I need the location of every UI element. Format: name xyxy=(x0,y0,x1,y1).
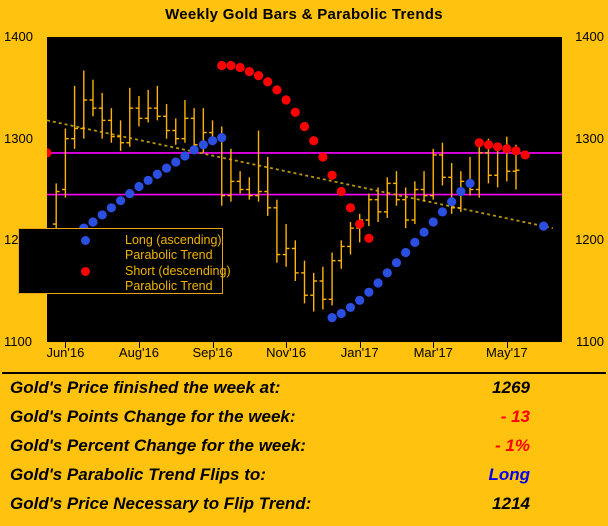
legend-label: Short (descending) xyxy=(125,264,231,278)
x-axis-tick-label: May'17 xyxy=(486,345,528,360)
short-parabolic-dot xyxy=(502,144,511,153)
ohlc-bar xyxy=(53,183,60,234)
short-parabolic-dot xyxy=(263,77,272,86)
ohlc-bar xyxy=(172,118,179,144)
long-parabolic-dot xyxy=(217,133,226,142)
long-parabolic-dot xyxy=(401,248,410,257)
gold-chart-page: Weekly Gold Bars & Parabolic Trends 1400… xyxy=(0,0,608,526)
x-axis-tick-label: Jan'17 xyxy=(341,345,379,360)
long-parabolic-dot xyxy=(327,313,336,322)
ohlc-bar xyxy=(71,86,78,149)
summary-row-label: Gold's Price finished the week at: xyxy=(10,378,280,398)
long-parabolic-dot xyxy=(392,258,401,267)
ohlc-bar xyxy=(347,222,354,255)
long-parabolic-dot xyxy=(447,197,456,206)
ohlc-bar xyxy=(292,240,299,281)
long-parabolic-dot xyxy=(410,238,419,247)
short-parabolic-dot xyxy=(291,108,300,117)
ohlc-bar xyxy=(402,187,409,228)
y-axis-tick-label: 1200 xyxy=(575,232,604,247)
ohlc-bar xyxy=(430,149,437,200)
long-parabolic-dot xyxy=(98,210,107,219)
y-axis-tick-label: 1400 xyxy=(4,29,33,44)
long-parabolic-dot xyxy=(383,268,392,277)
ohlc-bar xyxy=(163,104,170,139)
short-parabolic-dot xyxy=(364,234,373,243)
legend-long-dot-icon xyxy=(81,236,90,245)
summary-row-label: Gold's Percent Change for the week: xyxy=(10,436,306,456)
x-axis-tick-label: Sep'16 xyxy=(192,345,232,360)
summary-row: Gold's Points Change for the week:- 13 xyxy=(0,405,608,434)
ohlc-bar xyxy=(319,267,326,310)
long-parabolic-dot xyxy=(208,136,217,145)
ohlc-bar xyxy=(182,100,189,143)
x-axis-tick-label: Aug'16 xyxy=(119,345,159,360)
parabolic-trendline xyxy=(47,120,553,228)
long-parabolic-dot xyxy=(180,151,189,160)
long-parabolic-dot xyxy=(355,296,364,305)
long-parabolic-dot xyxy=(346,303,355,312)
section-divider xyxy=(2,372,606,374)
short-parabolic-dot xyxy=(318,152,327,161)
long-parabolic-dot xyxy=(125,189,134,198)
long-parabolic-dot xyxy=(88,217,97,226)
x-axis-tick-label: Mar'17 xyxy=(414,345,453,360)
short-parabolic-dot xyxy=(355,219,364,228)
chart-svg xyxy=(47,37,562,342)
summary-row: Gold's Percent Change for the week:- 1% xyxy=(0,434,608,463)
long-parabolic-dot xyxy=(199,140,208,149)
ohlc-bar xyxy=(108,108,115,143)
legend-label: Long (ascending) xyxy=(125,233,222,247)
summary-row: Gold's Price finished the week at:1269 xyxy=(0,376,608,405)
long-parabolic-dot xyxy=(337,309,346,318)
x-axis-tick-label: Nov'16 xyxy=(266,345,306,360)
ohlc-bar xyxy=(191,108,198,151)
chart-legend: Long (ascending)Parabolic TrendShort (de… xyxy=(18,228,223,294)
short-parabolic-dot xyxy=(337,187,346,196)
ohlc-bar xyxy=(393,171,400,206)
short-parabolic-dot xyxy=(282,95,291,104)
ohlc-bar xyxy=(246,177,253,199)
legend-sublabel: Parabolic Trend xyxy=(125,279,213,293)
ohlc-bar xyxy=(421,171,428,202)
y-axis-tick-label: 1300 xyxy=(4,131,33,146)
summary-row-label: Gold's Price Necessary to Flip Trend: xyxy=(10,494,311,514)
short-parabolic-dot xyxy=(521,150,530,159)
ohlc-bar xyxy=(80,71,87,139)
long-parabolic-dot xyxy=(116,196,125,205)
short-parabolic-dot xyxy=(484,140,493,149)
long-parabolic-dot xyxy=(144,176,153,185)
long-parabolic-dot xyxy=(465,179,474,188)
ohlc-bar xyxy=(264,157,271,216)
long-parabolic-dot xyxy=(107,203,116,212)
long-parabolic-dot xyxy=(438,207,447,216)
short-parabolic-dot xyxy=(236,63,245,72)
long-parabolic-dot xyxy=(456,187,465,196)
ohlc-bar xyxy=(384,177,391,218)
ohlc-bar xyxy=(136,96,143,127)
ohlc-bar xyxy=(476,147,483,198)
ohlc-bar xyxy=(274,200,281,263)
summary-row-value: Long xyxy=(488,465,530,485)
ohlc-bar xyxy=(375,187,382,222)
short-parabolic-dot xyxy=(309,136,318,145)
short-parabolic-dot xyxy=(475,138,484,147)
summary-row: Gold's Price Necessary to Flip Trend:121… xyxy=(0,492,608,521)
summary-row-value: 1214 xyxy=(492,494,530,514)
short-parabolic-dot xyxy=(511,146,520,155)
x-axis-tick-label: Jun'16 xyxy=(46,345,84,360)
chart-plot-area[interactable] xyxy=(47,37,562,342)
short-parabolic-dot xyxy=(272,85,281,94)
long-parabolic-dot xyxy=(153,170,162,179)
long-parabolic-dot xyxy=(171,157,180,166)
ohlc-bar xyxy=(411,181,418,224)
ohlc-bar xyxy=(145,90,152,123)
ohlc-bar xyxy=(62,129,69,198)
summary-row-value: 1269 xyxy=(492,378,530,398)
short-parabolic-dot xyxy=(226,61,235,70)
short-parabolic-dot xyxy=(217,61,226,70)
ohlc-bar xyxy=(154,86,161,121)
long-parabolic-dot xyxy=(364,288,373,297)
legend-sublabel: Parabolic Trend xyxy=(125,248,213,262)
long-parabolic-dot xyxy=(539,222,548,231)
ohlc-bar xyxy=(439,143,446,186)
long-parabolic-dot xyxy=(190,145,199,154)
summary-row-label: Gold's Points Change for the week: xyxy=(10,407,296,427)
ohlc-bar xyxy=(310,273,317,312)
summary-row-label: Gold's Parabolic Trend Flips to: xyxy=(10,465,266,485)
long-parabolic-dot xyxy=(429,217,438,226)
page-title: Weekly Gold Bars & Parabolic Trends xyxy=(0,6,608,23)
ohlc-bar xyxy=(301,261,308,304)
long-parabolic-dot xyxy=(134,182,143,191)
short-parabolic-dot xyxy=(300,122,309,131)
y-axis-tick-label: 1300 xyxy=(575,131,604,146)
y-axis-tick-label: 1100 xyxy=(576,334,604,349)
summary-row: Gold's Parabolic Trend Flips to:Long xyxy=(0,463,608,492)
ohlc-bar xyxy=(329,253,336,306)
ohlc-bar xyxy=(365,194,372,227)
long-parabolic-dot xyxy=(373,278,382,287)
legend-short-dot-icon xyxy=(81,267,90,276)
y-axis-tick-label: 1400 xyxy=(575,29,604,44)
ohlc-bar xyxy=(338,240,345,268)
long-parabolic-dot xyxy=(162,164,171,173)
short-parabolic-dot xyxy=(327,171,336,180)
ohlc-bar xyxy=(503,137,510,182)
short-parabolic-dot xyxy=(245,67,254,76)
y-axis-tick-label: 1100 xyxy=(4,334,32,349)
ohlc-bar xyxy=(228,149,235,202)
ohlc-bar xyxy=(237,171,244,193)
short-parabolic-dot xyxy=(47,148,52,157)
summary-row-value: - 1% xyxy=(495,436,530,456)
short-parabolic-dot xyxy=(254,71,263,80)
long-parabolic-dot xyxy=(419,228,428,237)
summary-table: Gold's Price finished the week at:1269Go… xyxy=(0,376,608,521)
ohlc-bar xyxy=(90,80,97,117)
summary-row-value: - 13 xyxy=(501,407,530,427)
ohlc-bar xyxy=(283,224,290,267)
short-parabolic-dot xyxy=(493,142,502,151)
ohlc-bar xyxy=(467,157,474,196)
short-parabolic-dot xyxy=(346,203,355,212)
